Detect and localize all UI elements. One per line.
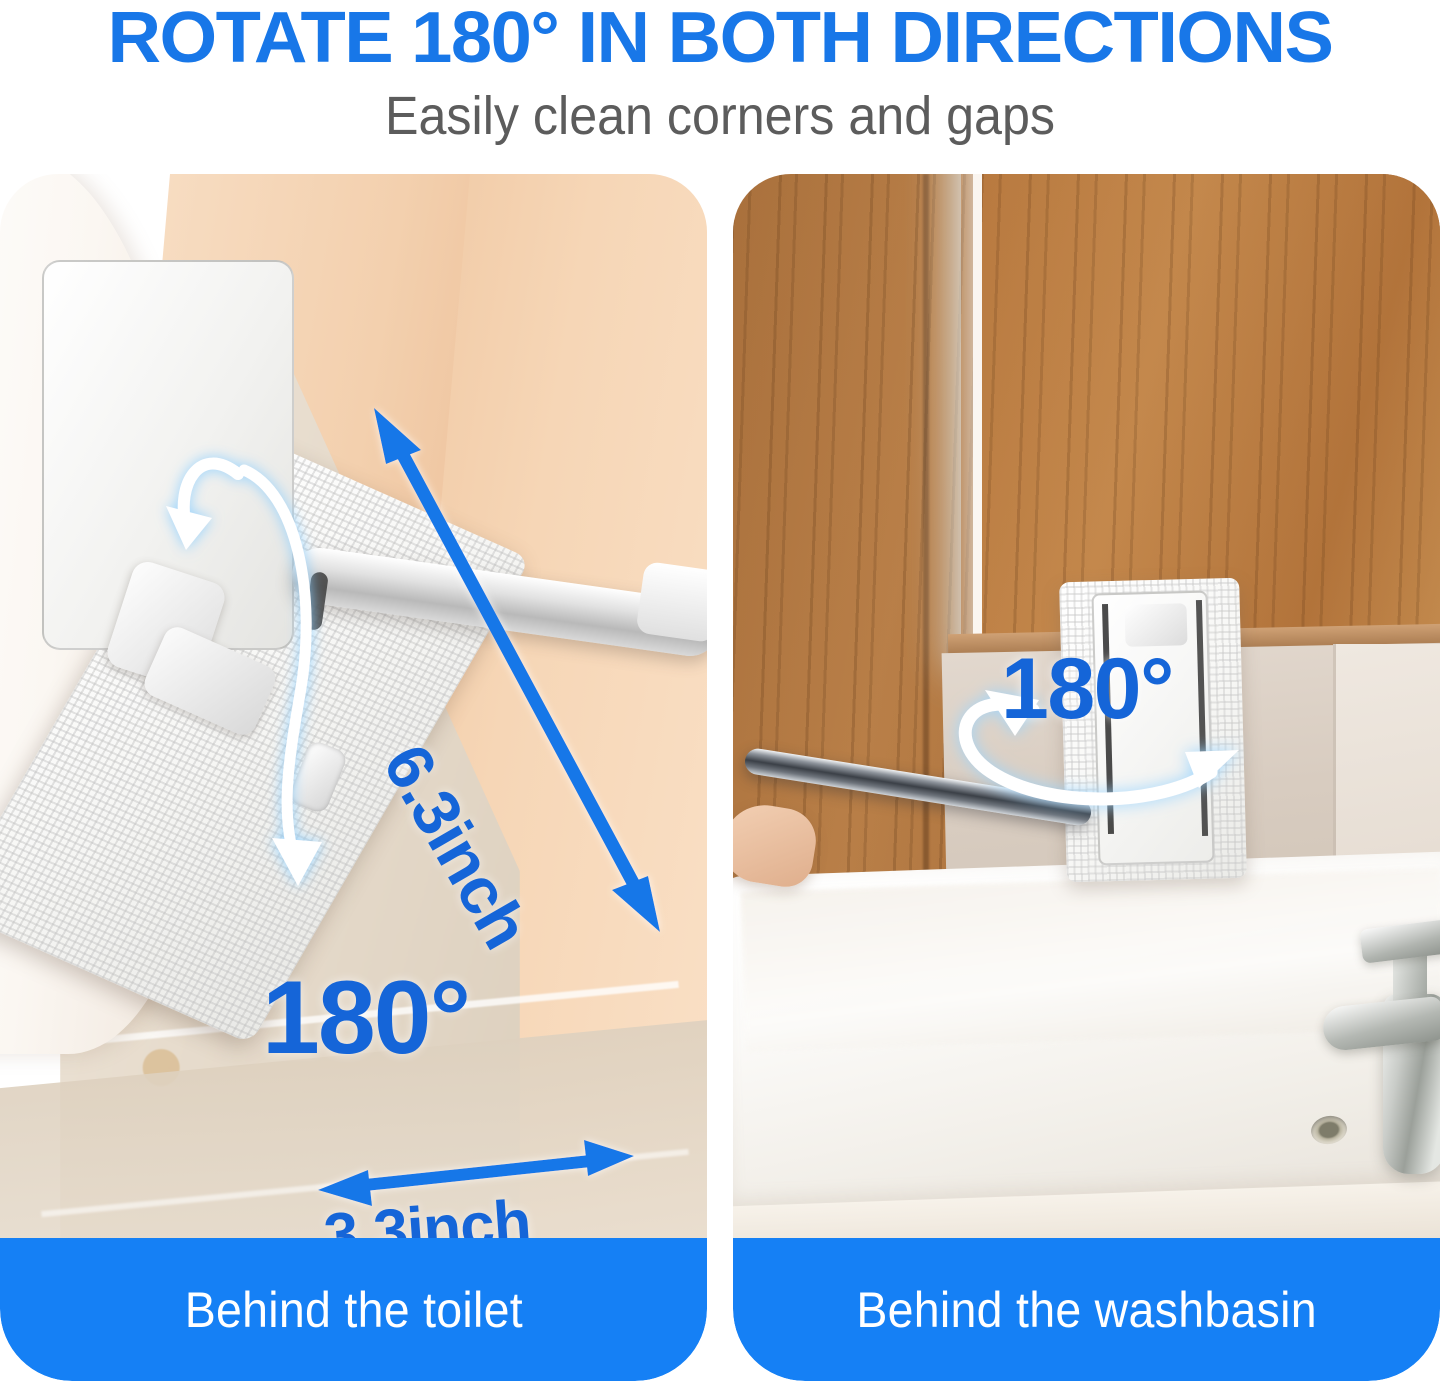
- wood-panel-seam: [923, 174, 929, 934]
- page-title: ROTATE 180° IN BOTH DIRECTIONS: [0, 0, 1440, 78]
- header: ROTATE 180° IN BOTH DIRECTIONS Easily cl…: [0, 0, 1440, 168]
- scene-toilet-corner: 180° 6.3inch 3.3inch: [0, 174, 707, 1238]
- scene-washbasin: 180°: [733, 174, 1440, 1238]
- caption-label-behind-the-washbasin: Behind the washbasin: [856, 1281, 1317, 1339]
- rotation-label-180: 180°: [1001, 646, 1173, 732]
- caption-bar-right: Behind the washbasin: [733, 1238, 1440, 1381]
- mop-pole-cap: [635, 561, 707, 643]
- caption-label-behind-the-toilet: Behind the toilet: [184, 1281, 522, 1339]
- rotation-label-180: 180°: [262, 966, 469, 1070]
- caption-bar-left: Behind the toilet: [0, 1238, 707, 1381]
- panel-behind-the-washbasin: 180° Behind the washbasin: [733, 174, 1440, 1381]
- page-subtitle: Easily clean corners and gaps: [50, 84, 1389, 148]
- panel-behind-the-toilet: 180° 6.3inch 3.3inch Behind the toilet: [0, 174, 707, 1381]
